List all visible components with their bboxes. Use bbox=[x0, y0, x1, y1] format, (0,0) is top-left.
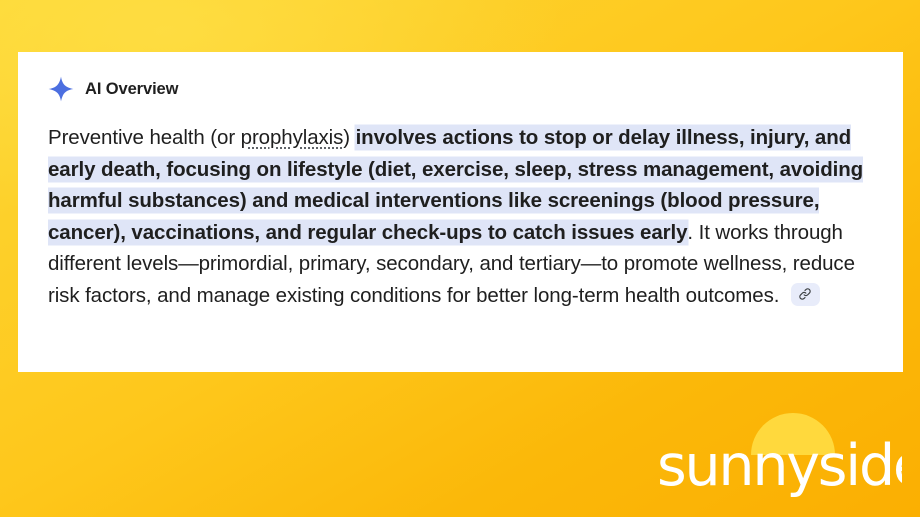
ai-overview-text: Preventive health (or prophylaxis) invol… bbox=[48, 122, 873, 311]
source-link-chip[interactable] bbox=[791, 283, 820, 306]
ai-overview-title: AI Overview bbox=[85, 80, 178, 99]
text-segment-intro: Preventive health (or bbox=[48, 126, 241, 149]
ai-overview-card: AI Overview Preventive health (or prophy… bbox=[18, 52, 903, 372]
ai-overview-header: AI Overview bbox=[48, 76, 873, 102]
logo-wordmark: sunnyside bbox=[657, 433, 902, 499]
sparkle-icon bbox=[48, 76, 74, 102]
sunnyside-logo: sunnyside bbox=[654, 403, 902, 499]
link-icon bbox=[798, 287, 812, 301]
text-segment-paren: ) bbox=[343, 126, 355, 149]
definition-term-prophylaxis[interactable]: prophylaxis bbox=[241, 126, 344, 149]
